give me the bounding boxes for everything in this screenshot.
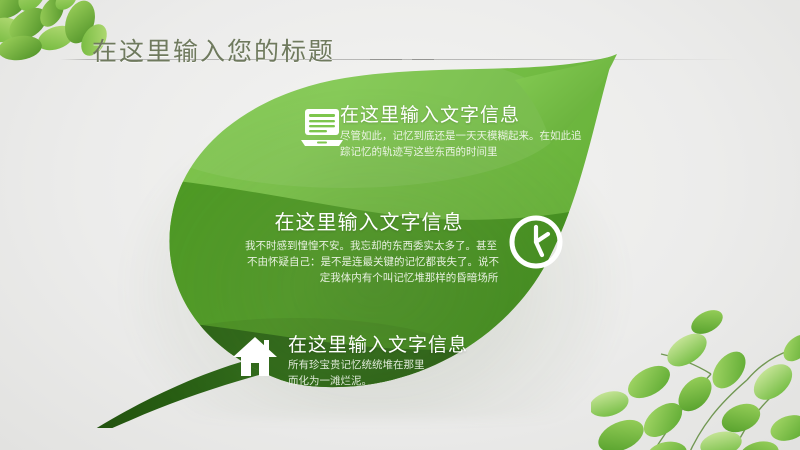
section-one: 在这里输入文字信息 尽管如此，记忆到底还是一天天模糊起来。在如此追 踪记忆的轨迹…	[285, 100, 625, 160]
section-three-body: 所有珍宝贵记忆统统堆在那里 而化为一滩烂泥。	[288, 357, 552, 389]
section-three-line-1: 所有珍宝贵记忆统统堆在那里	[288, 357, 552, 373]
section-two-body: 我不时感到惶惶不安。我忘却的东西委实太多了。甚至 不由怀疑自己：是不是连最关键的…	[185, 238, 575, 286]
section-three-heading: 在这里输入文字信息	[288, 330, 552, 357]
section-two: 在这里输入文字信息 我不时感到惶惶不安。我忘却的东西委实太多了。甚至 不由怀疑自…	[185, 206, 575, 286]
section-one-line-2: 踪记忆的轨迹写这些东西的时间里	[340, 144, 625, 160]
section-two-heading: 在这里输入文字信息	[185, 206, 553, 235]
section-one-line-1: 尽管如此，记忆到底还是一天天模糊起来。在如此追	[340, 128, 625, 144]
section-three: 在这里输入文字信息 所有珍宝贵记忆统统堆在那里 而化为一滩烂泥。	[222, 330, 552, 389]
section-three-line-2: 而化为一滩烂泥。	[288, 373, 552, 389]
section-two-line-1: 我不时感到惶惶不安。我忘却的东西委实太多了。甚至	[185, 238, 557, 254]
section-one-body: 尽管如此，记忆到底还是一天天模糊起来。在如此追 踪记忆的轨迹写这些东西的时间里	[340, 128, 625, 160]
section-two-line-2: 不由怀疑自己：是不是连最关键的记忆都丧失了。说不	[185, 254, 561, 270]
section-two-line-3: 定我体内有个叫记忆堆那样的昏暗场所	[243, 270, 575, 286]
section-one-heading: 在这里输入文字信息	[340, 100, 625, 127]
